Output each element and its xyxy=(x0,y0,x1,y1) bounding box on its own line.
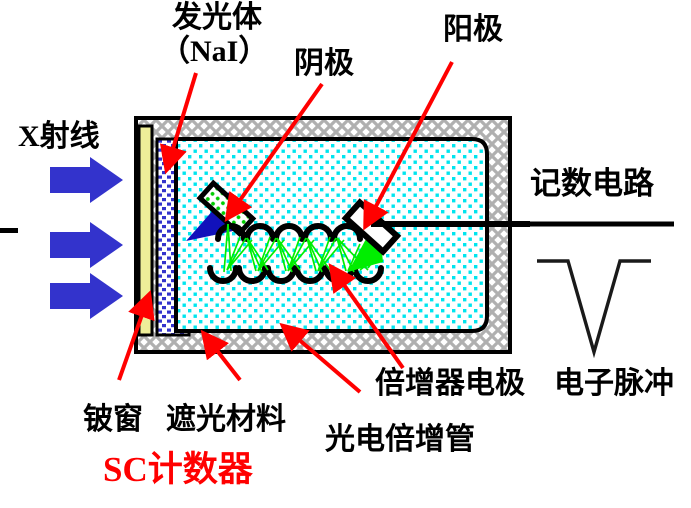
label-counter-title: SC计数器 xyxy=(103,452,253,489)
label-anode: 阳极 xyxy=(443,14,503,46)
label-dynode: 倍增器电极 xyxy=(375,368,525,400)
label-cathode: 阴极 xyxy=(294,48,354,80)
label-electron-pulse: 电子脉冲 xyxy=(554,368,674,400)
left-edge-tick xyxy=(0,228,18,233)
xray-beam-arrows xyxy=(50,157,123,319)
label-scintillator: 发光体 xyxy=(172,2,262,34)
beryllium-window xyxy=(139,126,152,335)
label-scintillator-material: （NaI） xyxy=(160,36,268,68)
label-be-window: 铍窗 xyxy=(83,404,143,436)
label-counting-circuit: 记数电路 xyxy=(530,168,654,201)
scintillation-counter-diagram: 发光体 （NaI） 阴极 阳极 X射线 记数电路 铍窗 遮光材料 光电倍增管 倍… xyxy=(0,0,691,508)
electron-pulse-waveform xyxy=(537,261,651,352)
label-light-shield: 遮光材料 xyxy=(166,404,286,436)
label-pmt: 光电倍增管 xyxy=(325,424,475,456)
label-xray: X射线 xyxy=(18,121,100,153)
